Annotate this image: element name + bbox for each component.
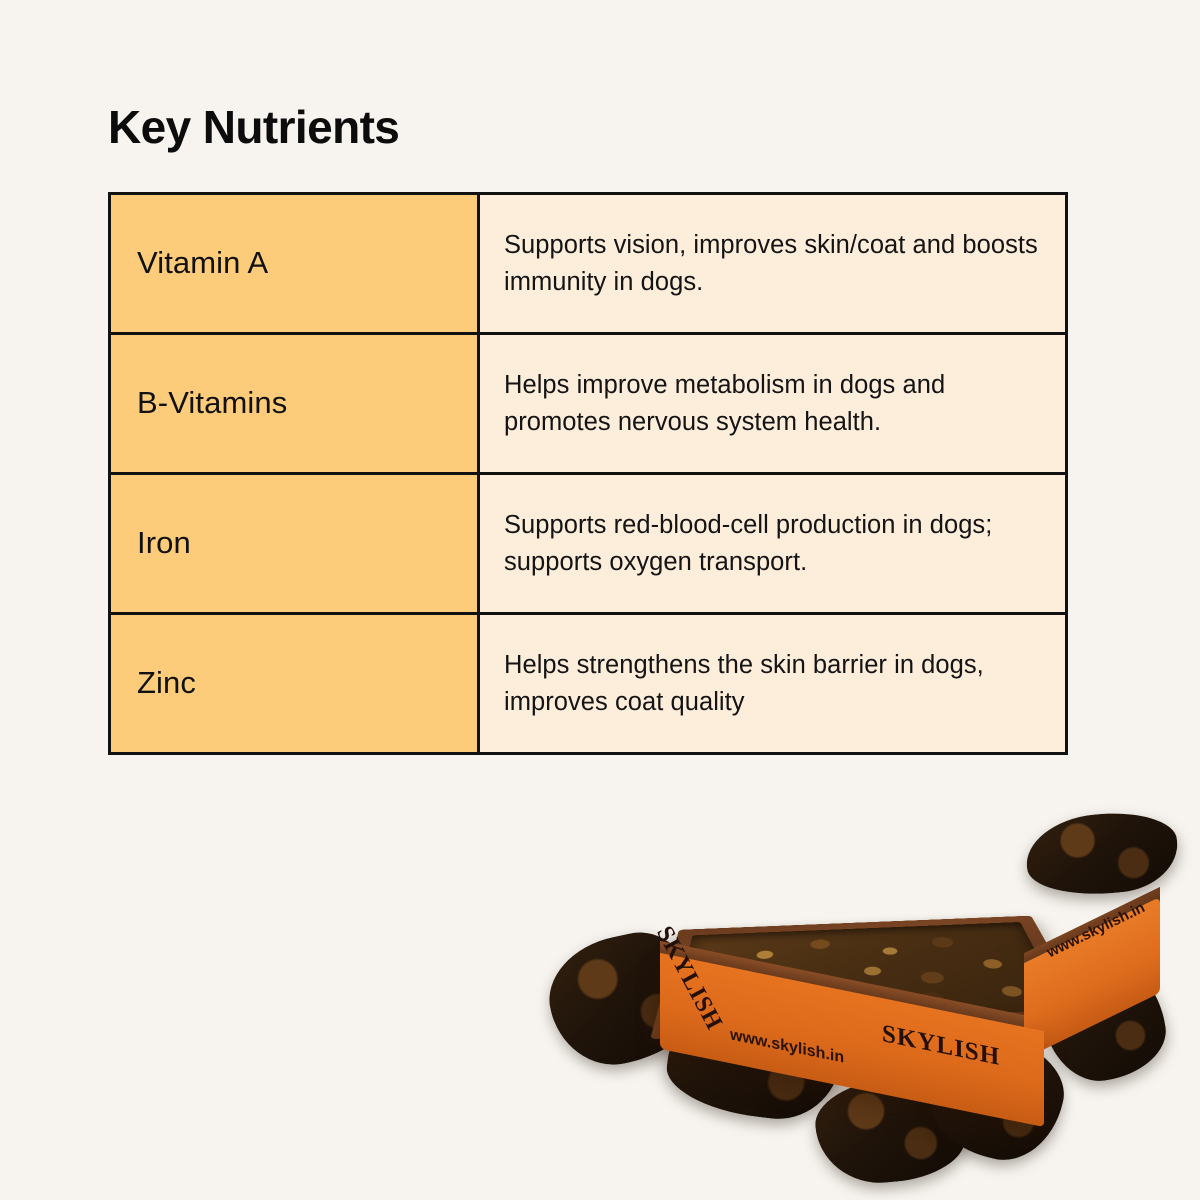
nutrient-name-cell: Zinc [110, 614, 479, 754]
table-body: Vitamin A Supports vision, improves skin… [110, 194, 1067, 754]
nutrient-benefit-cell: Helps improve metabolism in dogs and pro… [479, 334, 1067, 474]
table-row: Iron Supports red-blood-cell production … [110, 474, 1067, 614]
table-row: Vitamin A Supports vision, improves skin… [110, 194, 1067, 334]
product-infographic-page: Key Nutrients Vitamin A Supports vision,… [0, 0, 1200, 1200]
nutrient-name-cell: B-Vitamins [110, 334, 479, 474]
table-row: Zinc Helps strengthens the skin barrier … [110, 614, 1067, 754]
key-nutrients-table: Vitamin A Supports vision, improves skin… [108, 192, 1068, 755]
nutrient-benefit-cell: Helps strengthens the skin barrier in do… [479, 614, 1067, 754]
nutrient-name-cell: Iron [110, 474, 479, 614]
product-photo: SKYLISH SKYLISH www.skylish.in www.skyli… [560, 740, 1200, 1200]
wooden-product-tray: SKYLISH SKYLISH www.skylish.in www.skyli… [620, 780, 1140, 1110]
nutrient-benefit-cell: Supports vision, improves skin/coat and … [479, 194, 1067, 334]
nutrient-name-cell: Vitamin A [110, 194, 479, 334]
page-title: Key Nutrients [108, 103, 399, 151]
table-row: B-Vitamins Helps improve metabolism in d… [110, 334, 1067, 474]
nutrient-benefit-cell: Supports red-blood-cell production in do… [479, 474, 1067, 614]
